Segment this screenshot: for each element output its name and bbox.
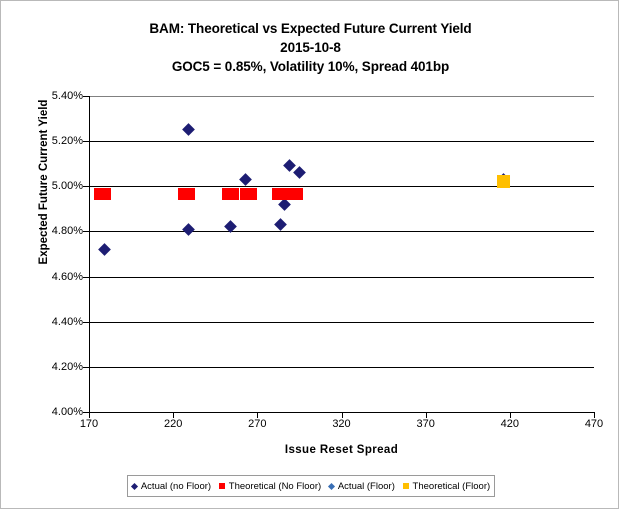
data-point-square bbox=[222, 188, 239, 200]
y-tick-label: 4.80% bbox=[37, 225, 83, 237]
y-tick-label: 4.60% bbox=[37, 271, 83, 283]
chart-title-line-1: BAM: Theoretical vs Expected Future Curr… bbox=[1, 19, 619, 38]
data-point-square bbox=[286, 188, 303, 200]
x-tick-mark bbox=[426, 412, 427, 418]
chart-title-line-3: GOC5 = 0.85%, Volatility 10%, Spread 401… bbox=[1, 57, 619, 76]
chart-title-line-2: 2015-10-8 bbox=[1, 38, 619, 57]
data-point-square bbox=[240, 188, 257, 200]
y-tick-label: 4.00% bbox=[37, 406, 83, 418]
y-tick-label: 5.00% bbox=[37, 180, 83, 192]
gridline-horizontal bbox=[89, 96, 594, 97]
x-tick-mark bbox=[173, 412, 174, 418]
x-tick-label: 320 bbox=[320, 418, 364, 430]
x-tick-label: 270 bbox=[235, 418, 279, 430]
gridline-horizontal bbox=[89, 231, 594, 232]
x-tick-label: 470 bbox=[572, 418, 616, 430]
y-tick-label: 5.40% bbox=[37, 90, 83, 102]
y-tick-mark bbox=[83, 322, 89, 323]
data-point-square bbox=[178, 188, 195, 200]
gridline-horizontal bbox=[89, 186, 594, 187]
y-tick-label: 5.20% bbox=[37, 135, 83, 147]
y-tick-mark bbox=[83, 231, 89, 232]
legend-marker-diamond-icon bbox=[328, 482, 335, 489]
legend-item: Theoretical (No Floor) bbox=[219, 481, 321, 492]
gridline-horizontal bbox=[89, 367, 594, 368]
y-tick-mark bbox=[83, 141, 89, 142]
y-tick-mark bbox=[83, 96, 89, 97]
legend-marker-square-icon bbox=[403, 483, 409, 489]
gridline-horizontal bbox=[89, 322, 594, 323]
x-tick-mark bbox=[257, 412, 258, 418]
y-tick-mark bbox=[83, 277, 89, 278]
x-tick-mark bbox=[594, 412, 595, 418]
y-tick-label: 4.40% bbox=[37, 316, 83, 328]
x-tick-label: 370 bbox=[404, 418, 448, 430]
plot-area bbox=[89, 96, 594, 412]
legend-item: Actual (no Floor) bbox=[132, 481, 211, 492]
x-tick-mark bbox=[89, 412, 90, 418]
x-tick-label: 420 bbox=[488, 418, 532, 430]
legend-item-label: Actual (no Floor) bbox=[141, 481, 211, 492]
y-axis-line bbox=[89, 96, 90, 413]
chart-page: BAM: Theoretical vs Expected Future Curr… bbox=[0, 0, 619, 509]
legend-marker-square-icon bbox=[219, 483, 225, 489]
chart-legend: Actual (no Floor)Theoretical (No Floor)A… bbox=[127, 475, 495, 497]
legend-item: Theoretical (Floor) bbox=[403, 481, 491, 492]
legend-item-label: Theoretical (No Floor) bbox=[229, 481, 321, 492]
data-point-square bbox=[94, 188, 111, 200]
data-point-square bbox=[497, 175, 510, 188]
x-axis-title: Issue Reset Spread bbox=[89, 444, 594, 456]
legend-item-label: Theoretical (Floor) bbox=[413, 481, 491, 492]
legend-item-label: Actual (Floor) bbox=[338, 481, 395, 492]
y-tick-mark bbox=[83, 367, 89, 368]
chart-title: BAM: Theoretical vs Expected Future Curr… bbox=[1, 19, 619, 76]
gridline-horizontal bbox=[89, 277, 594, 278]
y-tick-label-group: 5.40%5.20%5.00%4.80%4.60%4.40%4.20%4.00% bbox=[31, 1, 83, 509]
legend-item: Actual (Floor) bbox=[329, 481, 395, 492]
y-tick-mark bbox=[83, 186, 89, 187]
x-tick-label: 220 bbox=[151, 418, 195, 430]
legend-marker-diamond-icon bbox=[131, 482, 138, 489]
y-tick-label: 4.20% bbox=[37, 361, 83, 373]
x-tick-label: 170 bbox=[67, 418, 111, 430]
x-tick-mark bbox=[510, 412, 511, 418]
x-tick-mark bbox=[342, 412, 343, 418]
gridline-horizontal bbox=[89, 141, 594, 142]
